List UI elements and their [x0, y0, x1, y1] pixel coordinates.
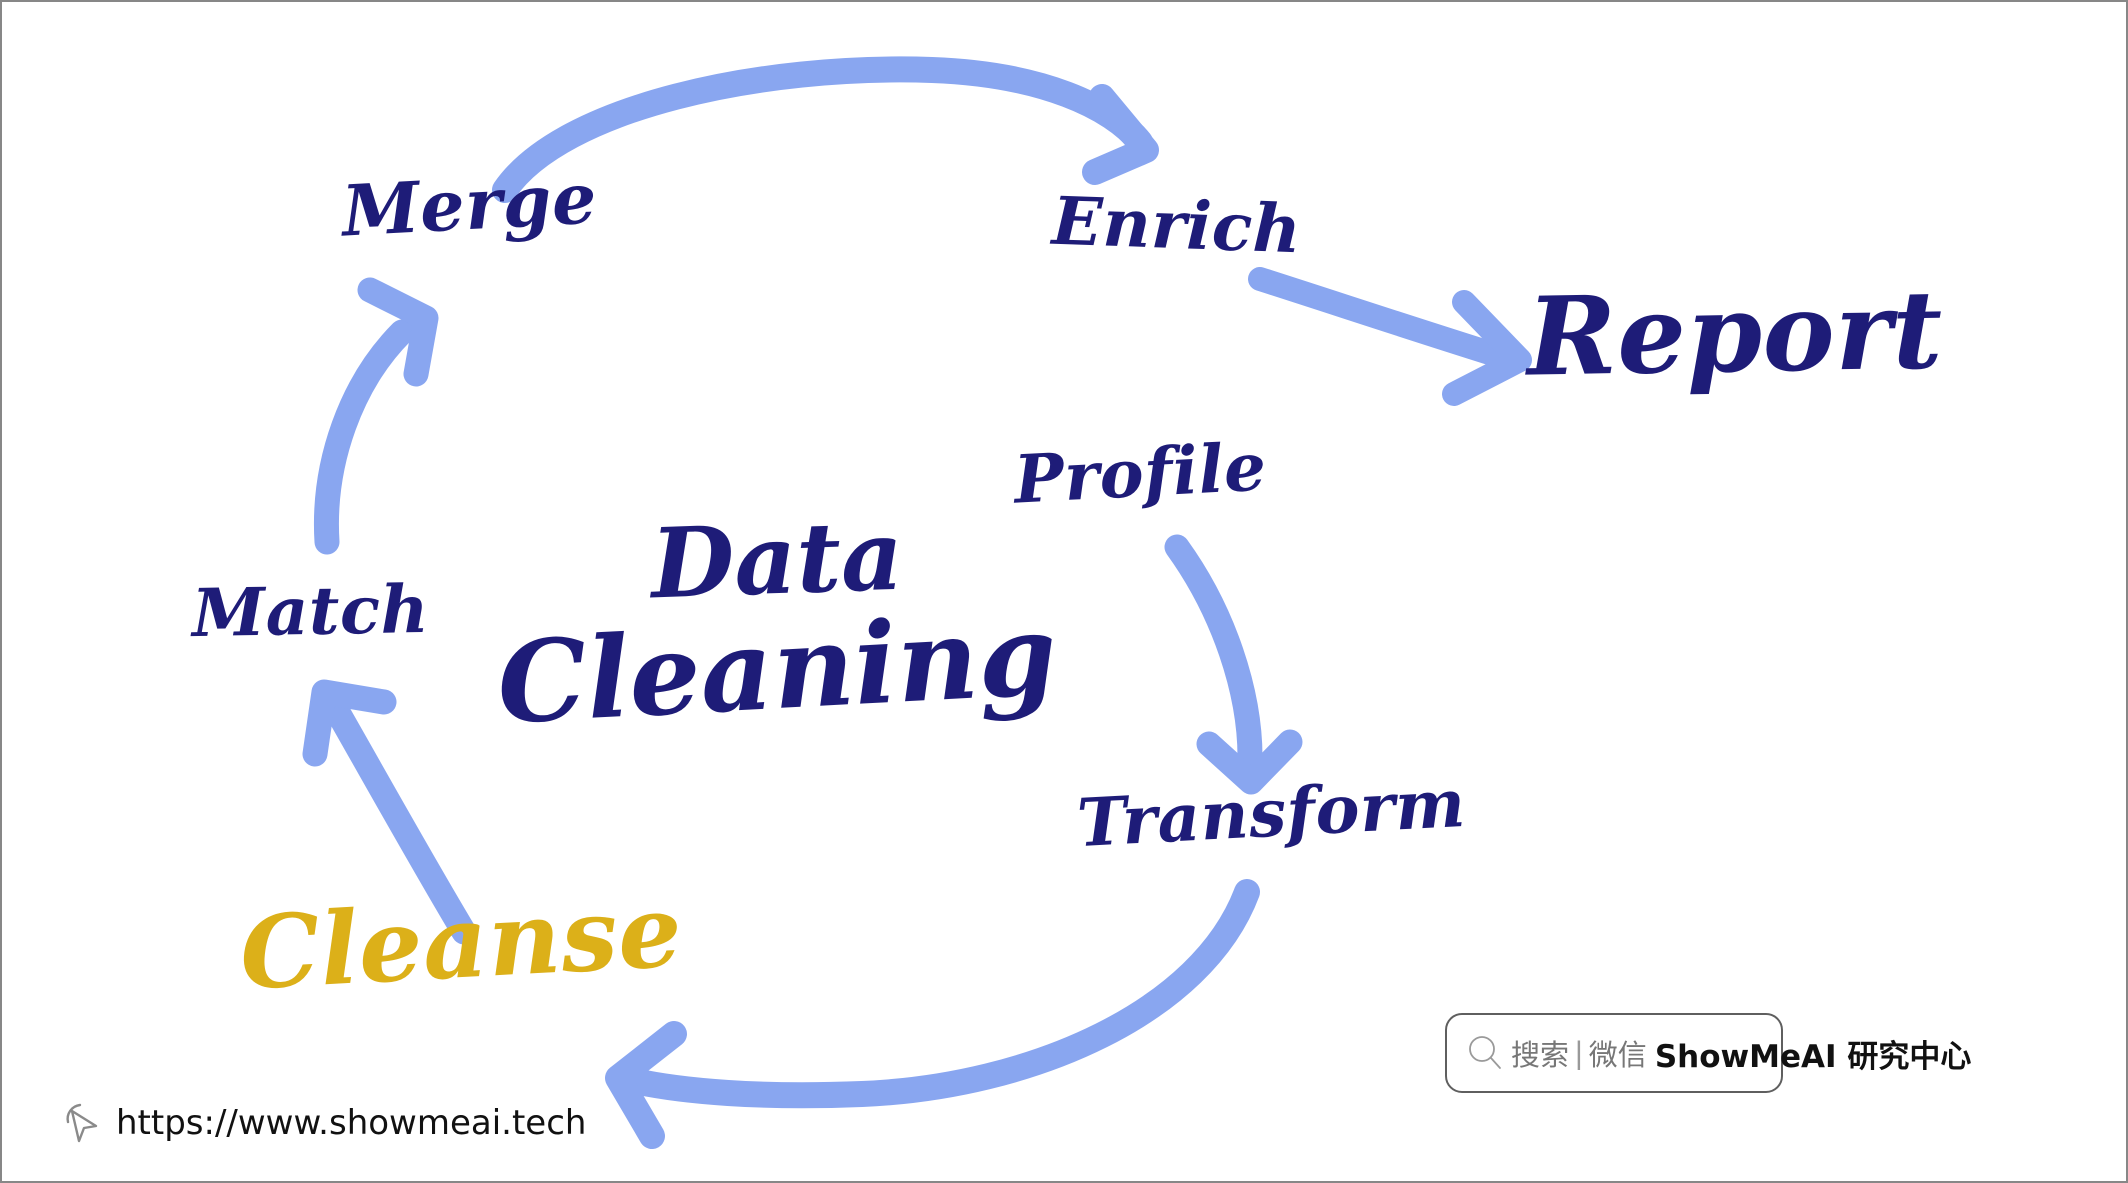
- arrow-profile-to-transform: [1177, 547, 1290, 782]
- stage-label-transform: Transform: [1076, 770, 1467, 856]
- title-line-2: Cleaning: [455, 597, 1100, 742]
- arrow-match-to-merge: [326, 290, 426, 542]
- arrow-transform-to-cleanse: [618, 892, 1247, 1136]
- arrow-merge-to-enrich: [505, 69, 1146, 190]
- search-hint-label: 搜索: [1511, 1032, 1569, 1074]
- channel-label: 微信: [1589, 1032, 1647, 1074]
- stage-label-match: Match: [191, 576, 429, 646]
- diagram-title: Data Cleaning: [457, 512, 1097, 726]
- stage-label-profile: Profile: [1012, 433, 1268, 512]
- diagram-canvas: Data Cleaning Merge Enrich Report Profil…: [0, 0, 2128, 1183]
- stage-label-cleanse: Cleanse: [238, 880, 685, 1003]
- badge-separator: |: [1574, 1036, 1584, 1070]
- search-icon: [1465, 1033, 1505, 1073]
- watermark-search-badge: 搜索 | 微信 ShowMeAI 研究中心: [1445, 1013, 1783, 1093]
- footer-url: https://www.showmeai.tech: [60, 1100, 586, 1146]
- brand-label: ShowMeAI 研究中心: [1655, 1031, 1972, 1076]
- url-label: https://www.showmeai.tech: [116, 1103, 586, 1143]
- arrow-enrich-to-report: [1260, 279, 1520, 394]
- cursor-pointer-icon: [60, 1100, 106, 1146]
- stage-label-merge: Merge: [340, 163, 598, 246]
- stage-label-report: Report: [1526, 276, 1944, 391]
- stage-label-enrich: Enrich: [1051, 188, 1302, 263]
